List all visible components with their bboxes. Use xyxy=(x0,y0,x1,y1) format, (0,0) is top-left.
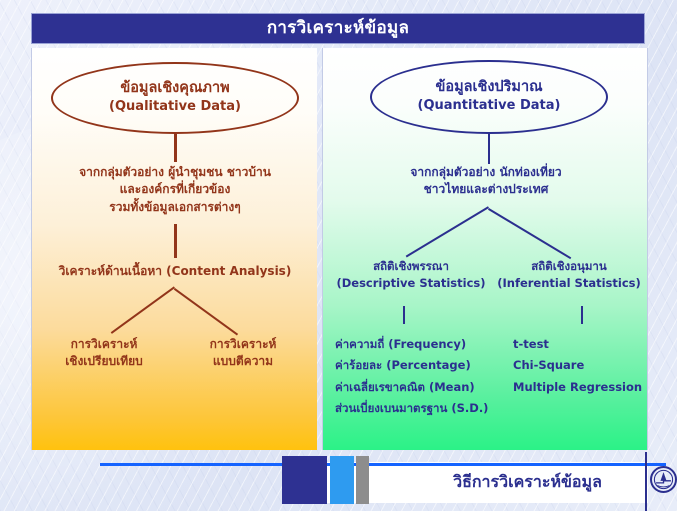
inferential-statistics-heading-english: (Inferential Statistics) xyxy=(489,275,649,292)
footer-block-dark-blue xyxy=(282,456,327,504)
inferential-statistics-tick-connector xyxy=(581,306,583,324)
descriptive-statistics-list: ค่าความถี่ (Frequency) ค่าร้อยละ (Percen… xyxy=(335,334,505,419)
list-item: Multiple Regression xyxy=(513,377,653,398)
footer-block-light-blue xyxy=(330,456,354,504)
page-title: การวิเคราะห์ข้อมูล xyxy=(267,20,409,37)
slide-canvas: การวิเคราะห์ข้อมูล ข้อมูลเชิงคุณภาพ (Qua… xyxy=(0,0,677,511)
slide-title-bar: การวิเคราะห์ข้อมูล xyxy=(31,13,645,44)
qualitative-leaf-right-line-1: การวิเคราะห์ xyxy=(182,336,304,353)
quantitative-branch-left-arm xyxy=(406,206,489,257)
list-item: ค่าร้อยละ (Percentage) xyxy=(335,355,505,376)
qualitative-leaf-right: การวิเคราะห์ แบบตีความ xyxy=(182,336,304,371)
qualitative-leaf-left: การวิเคราะห์ เชิงเปรียบเทียบ xyxy=(44,336,164,371)
qualitative-branch-right-arm xyxy=(174,288,238,335)
descriptive-statistics-heading-thai: สถิติเชิงพรรณา xyxy=(331,258,491,275)
list-item: Chi-Square xyxy=(513,355,653,376)
footer-vertical-rule xyxy=(645,452,647,511)
institution-seal-icon xyxy=(650,466,677,493)
descriptive-statistics-heading-english: (Descriptive Statistics) xyxy=(331,275,491,292)
qualitative-leaf-left-line-2: เชิงเปรียบเทียบ xyxy=(44,353,164,370)
qualitative-leaf-right-line-2: แบบตีความ xyxy=(182,353,304,370)
list-item: ค่าความถี่ (Frequency) xyxy=(335,334,505,355)
qualitative-leaf-left-line-1: การวิเคราะห์ xyxy=(44,336,164,353)
list-item: ค่าเฉลี่ยเรขาคณิต (Mean) xyxy=(335,377,505,398)
descriptive-statistics-heading: สถิติเชิงพรรณา (Descriptive Statistics) xyxy=(331,258,491,291)
qualitative-panel: ข้อมูลเชิงคุณภาพ (Qualitative Data) จากก… xyxy=(31,48,317,450)
qualitative-branch-left-arm xyxy=(111,286,175,333)
descriptive-statistics-tick-connector xyxy=(403,306,405,324)
quantitative-panel: ข้อมูลเชิงปริมาณ (Quantitative Data) จาก… xyxy=(322,48,648,450)
quantitative-branch-right-arm xyxy=(488,208,571,259)
list-item: t-test xyxy=(513,334,653,355)
qualitative-branch-connector xyxy=(32,48,318,450)
footer-horizontal-rule xyxy=(100,463,666,466)
inferential-statistics-list: t-test Chi-Square Multiple Regression xyxy=(513,334,653,398)
inferential-statistics-heading: สถิติเชิงอนุมาน (Inferential Statistics) xyxy=(489,258,649,291)
footer-title: วิธีการวิเคราะห์ข้อมูล xyxy=(420,470,635,495)
inferential-statistics-heading-thai: สถิติเชิงอนุมาน xyxy=(489,258,649,275)
list-item: ส่วนเบี่ยงเบนมาตรฐาน (S.D.) xyxy=(335,398,505,419)
footer-block-gray xyxy=(356,456,369,504)
